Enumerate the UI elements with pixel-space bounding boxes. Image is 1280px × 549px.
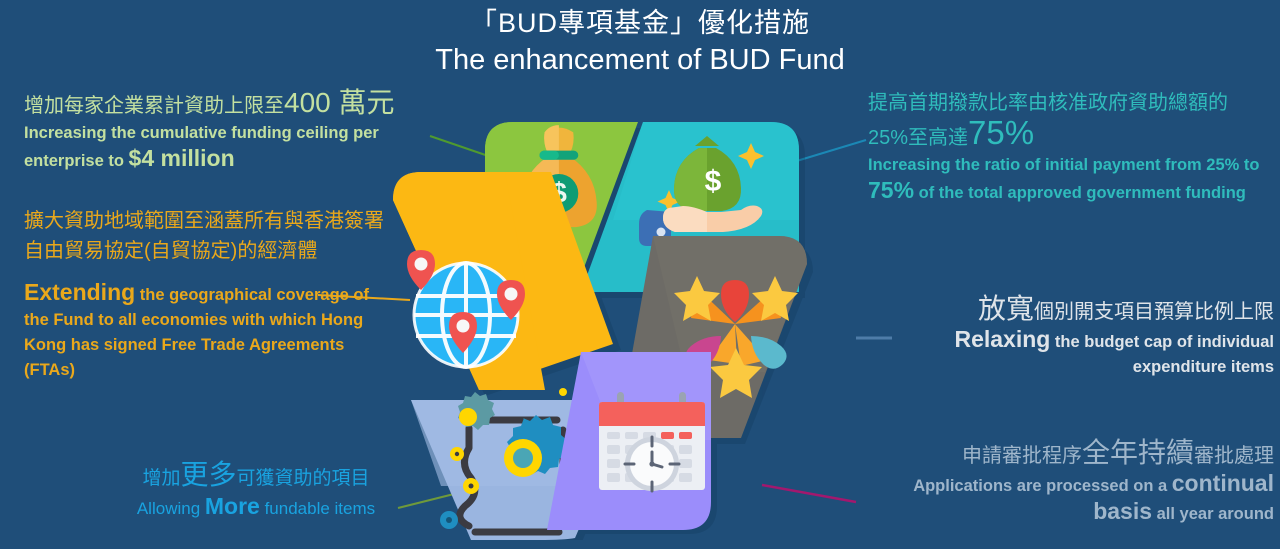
- callout-ratio-en-text-2: of the total approved government funding: [914, 184, 1246, 202]
- callout-ceiling-en-emphasis: $4 million: [129, 145, 235, 171]
- callout-more-fundable-items: 增加更多可獲資助的項目 Allowing More fundable items: [86, 460, 426, 521]
- calendar-clock-icon: [599, 392, 705, 491]
- callout-continual-en-text-2: all year around: [1152, 505, 1274, 523]
- callout-more-en-emphasis: More: [205, 493, 260, 519]
- callout-ratio-en: Increasing the ratio of initial payment …: [868, 153, 1268, 206]
- callout-ratio-en-text-1: Increasing the ratio of initial payment …: [868, 156, 1260, 174]
- callout-more-en-text-1: Allowing: [137, 499, 205, 518]
- callout-initial-payment-ratio: 提高首期撥款比率由核准政府資助總額的25%至高達75% Increasing t…: [868, 88, 1268, 206]
- callout-continual-zh: 申請審批程序全年持續審批處理: [860, 438, 1274, 471]
- callout-geo-en: Extending the geographical coverage of t…: [24, 280, 384, 383]
- callout-more-en-text-2: fundable items: [260, 499, 375, 518]
- callout-relax-en-text: the budget cap of individual expenditure…: [1050, 333, 1274, 376]
- callout-funding-ceiling: 增加每家企業累計資助上限至400 萬元 Increasing the cumul…: [24, 88, 460, 174]
- title-chinese: 「BUD專項基金」優化措施: [0, 6, 1280, 40]
- callout-relax-zh-emphasis: 放寬: [978, 293, 1034, 324]
- callout-more-zh: 增加更多可獲資助的項目: [86, 460, 426, 494]
- callout-continual-processing: 申請審批程序全年持續審批處理 Applications are processe…: [860, 438, 1274, 527]
- callout-more-en: Allowing More fundable items: [86, 494, 426, 521]
- callout-ratio-zh-text: 提高首期撥款比率由核准政府資助總額的25%至高達: [868, 92, 1228, 149]
- callout-continual-zh-text-1: 申請審批程序: [962, 445, 1082, 467]
- callout-continual-zh-emphasis: 全年持續: [1082, 437, 1194, 468]
- clock-icon: [625, 437, 679, 491]
- callout-ratio-en-emphasis: 75%: [868, 177, 914, 203]
- callout-ceiling-en: Increasing the cumulative funding ceilin…: [24, 121, 460, 174]
- callout-continual-zh-text-2: 審批處理: [1194, 445, 1274, 467]
- callout-ratio-zh: 提高首期撥款比率由核准政府資助總額的25%至高達75%: [868, 88, 1268, 153]
- callout-more-zh-emphasis: 更多: [180, 459, 236, 490]
- infographic-canvas: 「BUD專項基金」優化措施 The enhancement of BUD Fun…: [0, 0, 1280, 549]
- callout-geographical-coverage: 擴大資助地域範圍至涵蓋所有與香港簽署自由貿易協定(自貿協定)的經濟體 Exten…: [24, 206, 384, 383]
- callout-relax-zh-text: 個別開支項目預算比例上限: [1034, 301, 1274, 323]
- callout-continual-en-text-1: Applications are processed on a: [913, 477, 1172, 495]
- page-title: 「BUD專項基金」優化措施 The enhancement of BUD Fun…: [0, 6, 1280, 79]
- callout-relax-en-emphasis: Relaxing: [954, 326, 1050, 352]
- callout-ceiling-zh: 增加每家企業累計資助上限至400 萬元: [24, 88, 460, 121]
- callout-relax-en: Relaxing the budget cap of individual ex…: [862, 327, 1274, 380]
- callout-more-zh-text-2: 可獲資助的項目: [237, 468, 370, 489]
- callout-continual-en: Applications are processed on a continua…: [860, 471, 1274, 527]
- callout-ceiling-zh-text: 增加每家企業累計資助上限至: [24, 95, 284, 117]
- title-english: The enhancement of BUD Fund: [0, 41, 1280, 79]
- callout-ratio-zh-emphasis: 75%: [968, 114, 1034, 151]
- callout-ceiling-zh-emphasis: 400 萬元: [284, 87, 395, 118]
- wheel-segment-calendar: [547, 352, 711, 530]
- callout-more-zh-text-1: 增加: [142, 468, 180, 489]
- callout-geo-en-emphasis: Extending: [24, 279, 135, 305]
- hex-wheel-graphic: $ $: [385, 100, 895, 540]
- svg-text:$: $: [705, 165, 722, 198]
- callout-geo-zh: 擴大資助地域範圍至涵蓋所有與香港簽署自由貿易協定(自貿協定)的經濟體: [24, 206, 384, 266]
- callout-budget-cap-relax: 放寬個別開支項目預算比例上限 Relaxing the budget cap o…: [862, 294, 1274, 380]
- callout-relax-zh: 放寬個別開支項目預算比例上限: [862, 294, 1274, 327]
